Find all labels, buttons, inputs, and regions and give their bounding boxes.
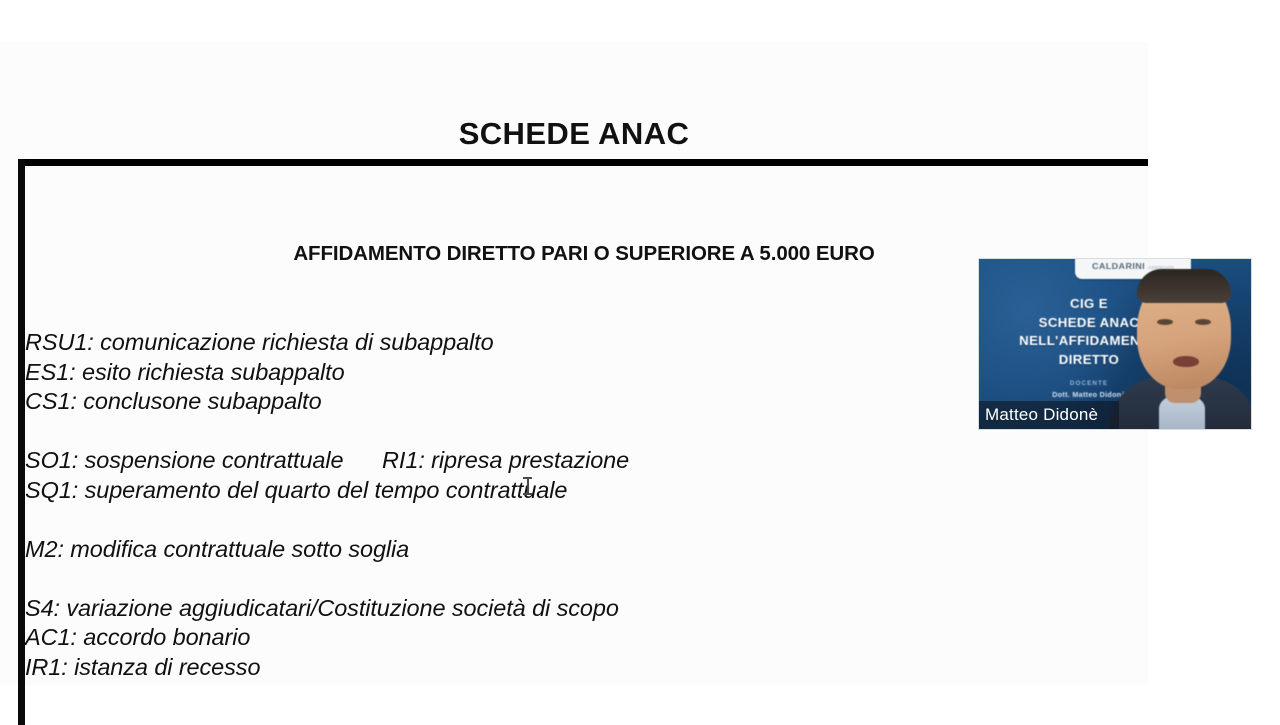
presenter-left-eye — [1157, 319, 1173, 325]
text-cursor-icon — [523, 476, 532, 496]
screen-share-area: SCHEDE ANAC AFFIDAMENTO DIRETTO PARI O S… — [0, 0, 1280, 720]
presentation-slide: SCHEDE ANAC AFFIDAMENTO DIRETTO PARI O S… — [0, 42, 1148, 685]
body-line: CS1: conclusone subappalto — [25, 387, 1125, 417]
body-line-spacer — [25, 505, 1125, 535]
presenter-mouth — [1173, 356, 1199, 367]
ibeam-bottom-serif — [523, 493, 532, 495]
presenter-right-eye — [1195, 319, 1211, 325]
body-line: SO1: sospensione contrattuale RI1: ripre… — [25, 446, 1125, 476]
body-line: IR1: istanza di recesso — [25, 653, 1125, 683]
slide-body-text: RSU1: comunicazione richiesta di subappa… — [25, 328, 1125, 682]
participant-name-band: Matteo Didonè — [979, 401, 1119, 429]
slide-frame-top-rule — [18, 159, 1148, 166]
body-line: M2: modifica contrattuale sotto soglia — [25, 535, 1125, 565]
presenter-hair — [1137, 269, 1231, 303]
body-line: RSU1: comunicazione richiesta di subappa… — [25, 328, 1125, 358]
body-line: SQ1: superamento del quarto del tempo co… — [25, 476, 1125, 506]
webcam-video-tile[interactable]: CALDARINI ASSOCIATI CIG E SCHEDE ANAC NE… — [978, 258, 1252, 430]
slide-frame-left-rule — [18, 159, 25, 725]
body-line: AC1: accordo bonario — [25, 623, 1125, 653]
body-line-spacer — [25, 564, 1125, 594]
participant-name: Matteo Didonè — [979, 405, 1098, 425]
page-title: SCHEDE ANAC — [0, 116, 1148, 152]
body-line: S4: variazione aggiudicatari/Costituzion… — [25, 594, 1125, 624]
webcam-presenter-figure — [1107, 258, 1252, 429]
slide-subtitle: AFFIDAMENTO DIRETTO PARI O SUPERIORE A 5… — [25, 242, 1143, 266]
ibeam-stem — [527, 478, 529, 494]
body-line-spacer — [25, 417, 1125, 447]
body-line: ES1: esito richiesta subappalto — [25, 358, 1125, 388]
